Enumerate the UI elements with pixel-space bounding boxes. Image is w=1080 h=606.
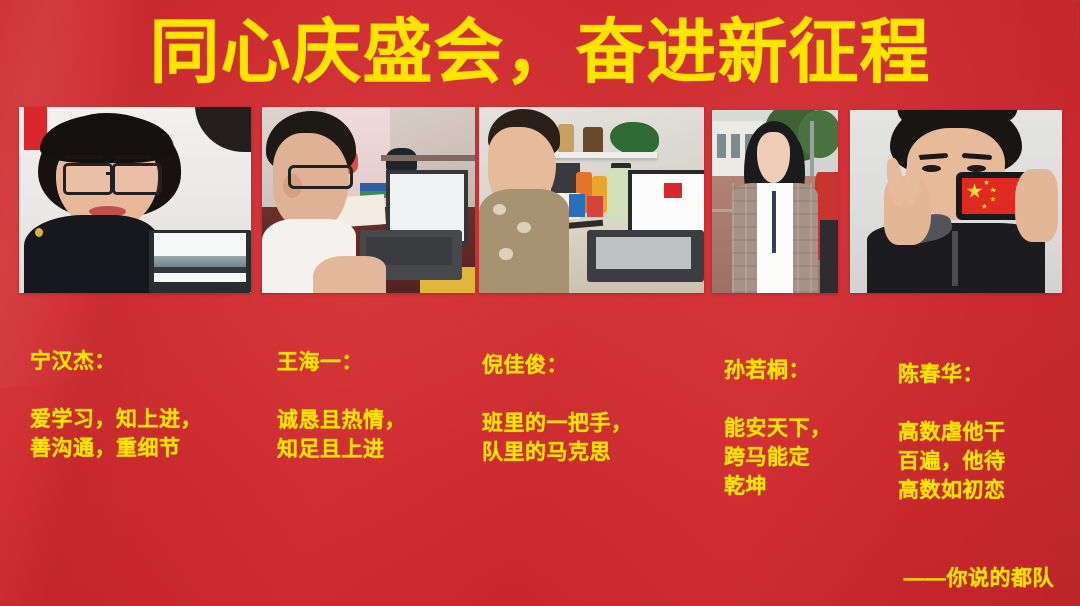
- presentation-slide: 同心庆盛会，奋进新征程: [0, 0, 1080, 606]
- caption-wang-haiyi: 王海一： 诚恳且热情， 知足且上进: [277, 319, 406, 493]
- photo-scene: [19, 107, 251, 293]
- caption-text: 班里的一把手， 队里的马克思: [482, 409, 633, 467]
- photo-scene: [479, 107, 704, 293]
- caption-sun-ruotong: 孙若桐： 能安天下， 跨马能定 乾坤: [724, 327, 832, 530]
- photo-ni-jiajun: [479, 107, 704, 293]
- photo-wang-haiyi: [262, 107, 475, 293]
- caption-text: 爱学习，知上进， 善沟通，重细节: [30, 405, 202, 463]
- photo-sun-ruotong: [712, 110, 838, 293]
- caption-name: 倪佳俊：: [482, 351, 633, 380]
- caption-name: 宁汉杰：: [30, 347, 202, 376]
- photo-chen-chunhua: [850, 110, 1062, 293]
- caption-name: 王海一：: [277, 348, 406, 377]
- caption-chen-chunhua: 陈春华： 高数虐他干 百遍，他待 高数如初恋: [898, 331, 1006, 534]
- photo-scene: [712, 110, 838, 293]
- caption-name: 陈春华：: [898, 360, 1006, 389]
- caption-text: 诚恳且热情， 知足且上进: [277, 406, 406, 464]
- photo-scene: [262, 107, 475, 293]
- team-signature: ——你说的都队: [904, 566, 1055, 592]
- caption-ning-hanjie: 宁汉杰： 爱学习，知上进， 善沟通，重细节: [30, 318, 202, 492]
- caption-text: 能安天下， 跨马能定 乾坤: [724, 414, 832, 501]
- caption-ni-jiajun: 倪佳俊： 班里的一把手， 队里的马克思: [482, 322, 633, 496]
- photo-ning-hanjie: [19, 107, 251, 293]
- photo-scene: [850, 110, 1062, 293]
- caption-text: 高数虐他干 百遍，他待 高数如初恋: [898, 418, 1006, 505]
- caption-name: 孙若桐：: [724, 356, 832, 385]
